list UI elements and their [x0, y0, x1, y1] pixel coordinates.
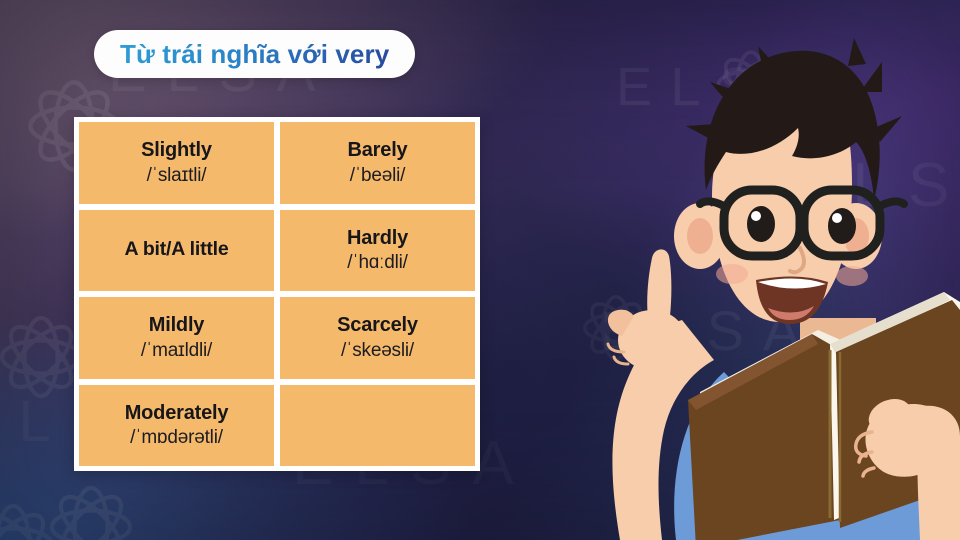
- word-cell: Barely/ˈbeəli/: [280, 122, 475, 204]
- page-title: Từ trái nghĩa với very: [120, 39, 389, 70]
- word-cell: Slightly/ˈslaɪtli/: [79, 122, 274, 204]
- pointing-hand: [608, 249, 686, 370]
- word-pronunciation: /ˈmɒdərətli/: [130, 427, 223, 448]
- word-pronunciation: /ˈskeəsli/: [341, 340, 414, 361]
- slide-canvas: ELSA ELSA ELSA ELSA ELSA ELSA: [0, 0, 960, 540]
- word-pronunciation: /ˈhɑːdli/: [347, 252, 408, 273]
- word-label: A bit/A little: [124, 239, 228, 261]
- word-label: Moderately: [125, 402, 229, 424]
- word-label: Mildly: [149, 314, 204, 336]
- word-pronunciation: /ˈslaɪtli/: [147, 165, 207, 186]
- title-pill: Từ trái nghĩa với very: [94, 30, 415, 78]
- word-cell: Hardly/ˈhɑːdli/: [280, 210, 475, 292]
- word-cell: Scarcely/ˈskeəsli/: [280, 297, 475, 379]
- word-label: Hardly: [347, 227, 408, 249]
- word-cell: Moderately/ˈmɒdərətli/: [79, 385, 274, 467]
- word-pronunciation: /ˈbeəli/: [350, 165, 405, 186]
- word-label: Slightly: [141, 139, 212, 161]
- student-illustration: [500, 0, 960, 540]
- word-pronunciation: /ˈmaɪldli/: [141, 340, 212, 361]
- word-label: Barely: [348, 139, 408, 161]
- word-grid-card: Slightly/ˈslaɪtli/Barely/ˈbeəli/A bit/A …: [74, 117, 480, 471]
- word-cell: A bit/A little: [79, 210, 274, 292]
- right-forearm: [918, 406, 960, 540]
- word-cell-empty: [280, 385, 475, 467]
- word-cell: Mildly/ˈmaɪldli/: [79, 297, 274, 379]
- word-label: Scarcely: [337, 314, 418, 336]
